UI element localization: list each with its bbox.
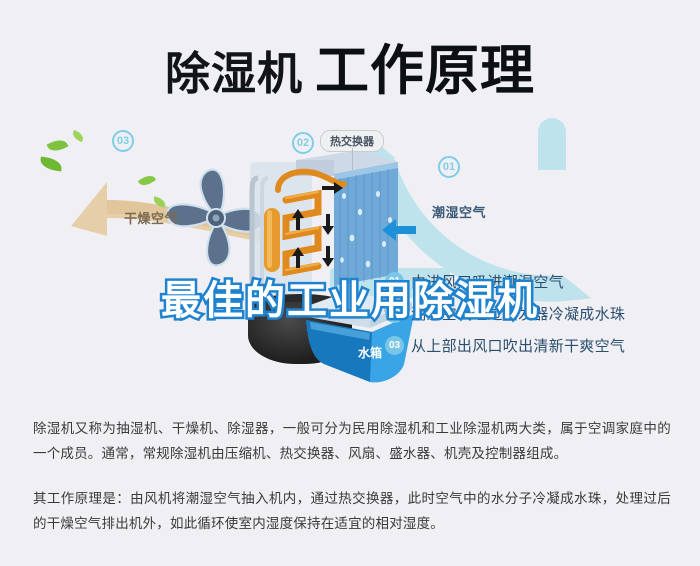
dry-air-label: 干燥空气 [124, 208, 178, 227]
humid-air-badge: 01 [438, 156, 460, 178]
leaf-icon [39, 157, 62, 172]
page-title: 除湿机工作原理 [0, 26, 700, 105]
description-paragraph-2: 其工作原理是：由风机将潮湿空气抽入机内，通过热交换器，此时空气中的水分子冷凝成水… [33, 486, 671, 536]
page-title-part2: 工作原理 [315, 41, 535, 101]
heat-exchanger-badge: 02 [292, 132, 314, 154]
step-number: 03 [385, 336, 404, 355]
description-paragraph-1: 除湿机又称为抽湿机、干燥机、除湿器，一般可分为民用除湿机和工业除湿机两大类，属于… [33, 416, 671, 466]
water-tank-label: 水箱 [358, 344, 382, 361]
overlay-headline: 最佳的工业用除湿机 [0, 268, 700, 326]
heat-exchanger-callout-stem [352, 148, 353, 170]
humid-airflow-swoosh-top [538, 118, 566, 170]
description-block: 除湿机又称为抽湿机、干燥机、除湿器，一般可分为民用除湿机和工业除湿机两大类，属于… [33, 416, 671, 536]
infographic-page: 除湿机工作原理 [0, 0, 700, 566]
humid-air-label: 潮湿空气 [432, 202, 486, 221]
page-title-part1: 除湿机 [165, 48, 303, 99]
step-text: 从上部出风口吹出清新干爽空气 [411, 335, 625, 356]
dry-air-badge: 03 [112, 130, 134, 152]
list-item: 03 从上部出风口吹出清新干爽空气 [385, 329, 685, 361]
leaf-icon [71, 130, 85, 142]
